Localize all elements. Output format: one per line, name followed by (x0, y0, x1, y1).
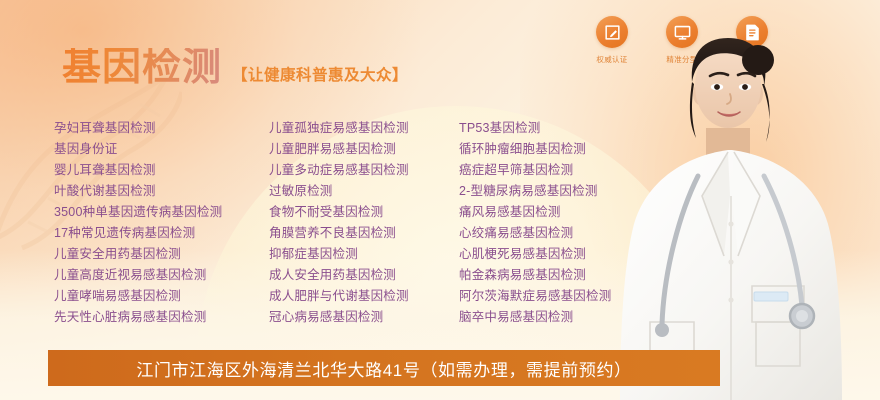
gene-test-column-2: 儿童孤独症易感基因检测 儿童肥胖易感基因检测 儿童多动症易感基因检测 过敏原检测… (269, 118, 459, 328)
list-item[interactable]: 17种常见遗传病基因检测 (54, 223, 269, 244)
doctor-photo (606, 0, 856, 400)
list-item[interactable]: 抑郁症基因检测 (269, 244, 459, 265)
list-item[interactable]: 儿童高度近视易感基因检测 (54, 265, 269, 286)
list-item[interactable]: 成人肥胖与代谢基因检测 (269, 286, 459, 307)
list-item[interactable]: 儿童肥胖易感基因检测 (269, 139, 459, 160)
list-item[interactable]: 儿童哮喘易感基因检测 (54, 286, 269, 307)
banner-heading: 基因检测 【让健康科普惠及大众】 (62, 48, 408, 87)
list-item[interactable]: 食物不耐受基因检测 (269, 202, 459, 223)
list-item[interactable]: 3500种单基因遗传病基因检测 (54, 202, 269, 223)
page-title: 基因检测 (62, 48, 222, 87)
address-text: 江门市江海区外海清兰北华大路41号（如需办理，需提前预约） (136, 356, 631, 381)
list-item[interactable]: 过敏原检测 (269, 181, 459, 202)
list-item[interactable]: 儿童多动症易感基因检测 (269, 160, 459, 181)
list-item[interactable]: 叶酸代谢基因检测 (54, 181, 269, 202)
list-item[interactable]: 婴儿耳聋基因检测 (54, 160, 269, 181)
gene-testing-banner: 基因检测 【让健康科普惠及大众】 权威认证 精准分型 (0, 0, 880, 400)
list-item[interactable]: 孕妇耳聋基因检测 (54, 118, 269, 139)
list-item[interactable]: 儿童孤独症易感基因检测 (269, 118, 459, 139)
list-item[interactable]: 角膜营养不良基因检测 (269, 223, 459, 244)
address-bar[interactable]: 江门市江海区外海清兰北华大路41号（如需办理，需提前预约） (48, 350, 720, 386)
gene-test-column-1: 孕妇耳聋基因检测 基因身份证 婴儿耳聋基因检测 叶酸代谢基因检测 3500种单基… (54, 118, 269, 328)
list-item[interactable]: 成人安全用药基因检测 (269, 265, 459, 286)
page-subtitle: 【让健康科普惠及大众】 (232, 68, 408, 88)
gene-test-list: 孕妇耳聋基因检测 基因身份证 婴儿耳聋基因检测 叶酸代谢基因检测 3500种单基… (54, 118, 674, 328)
list-item[interactable]: 儿童安全用药基因检测 (54, 244, 269, 265)
list-item[interactable]: 基因身份证 (54, 139, 269, 160)
list-item[interactable]: 先天性心脏病易感基因检测 (54, 307, 269, 328)
list-item[interactable]: 冠心病易感基因检测 (269, 307, 459, 328)
